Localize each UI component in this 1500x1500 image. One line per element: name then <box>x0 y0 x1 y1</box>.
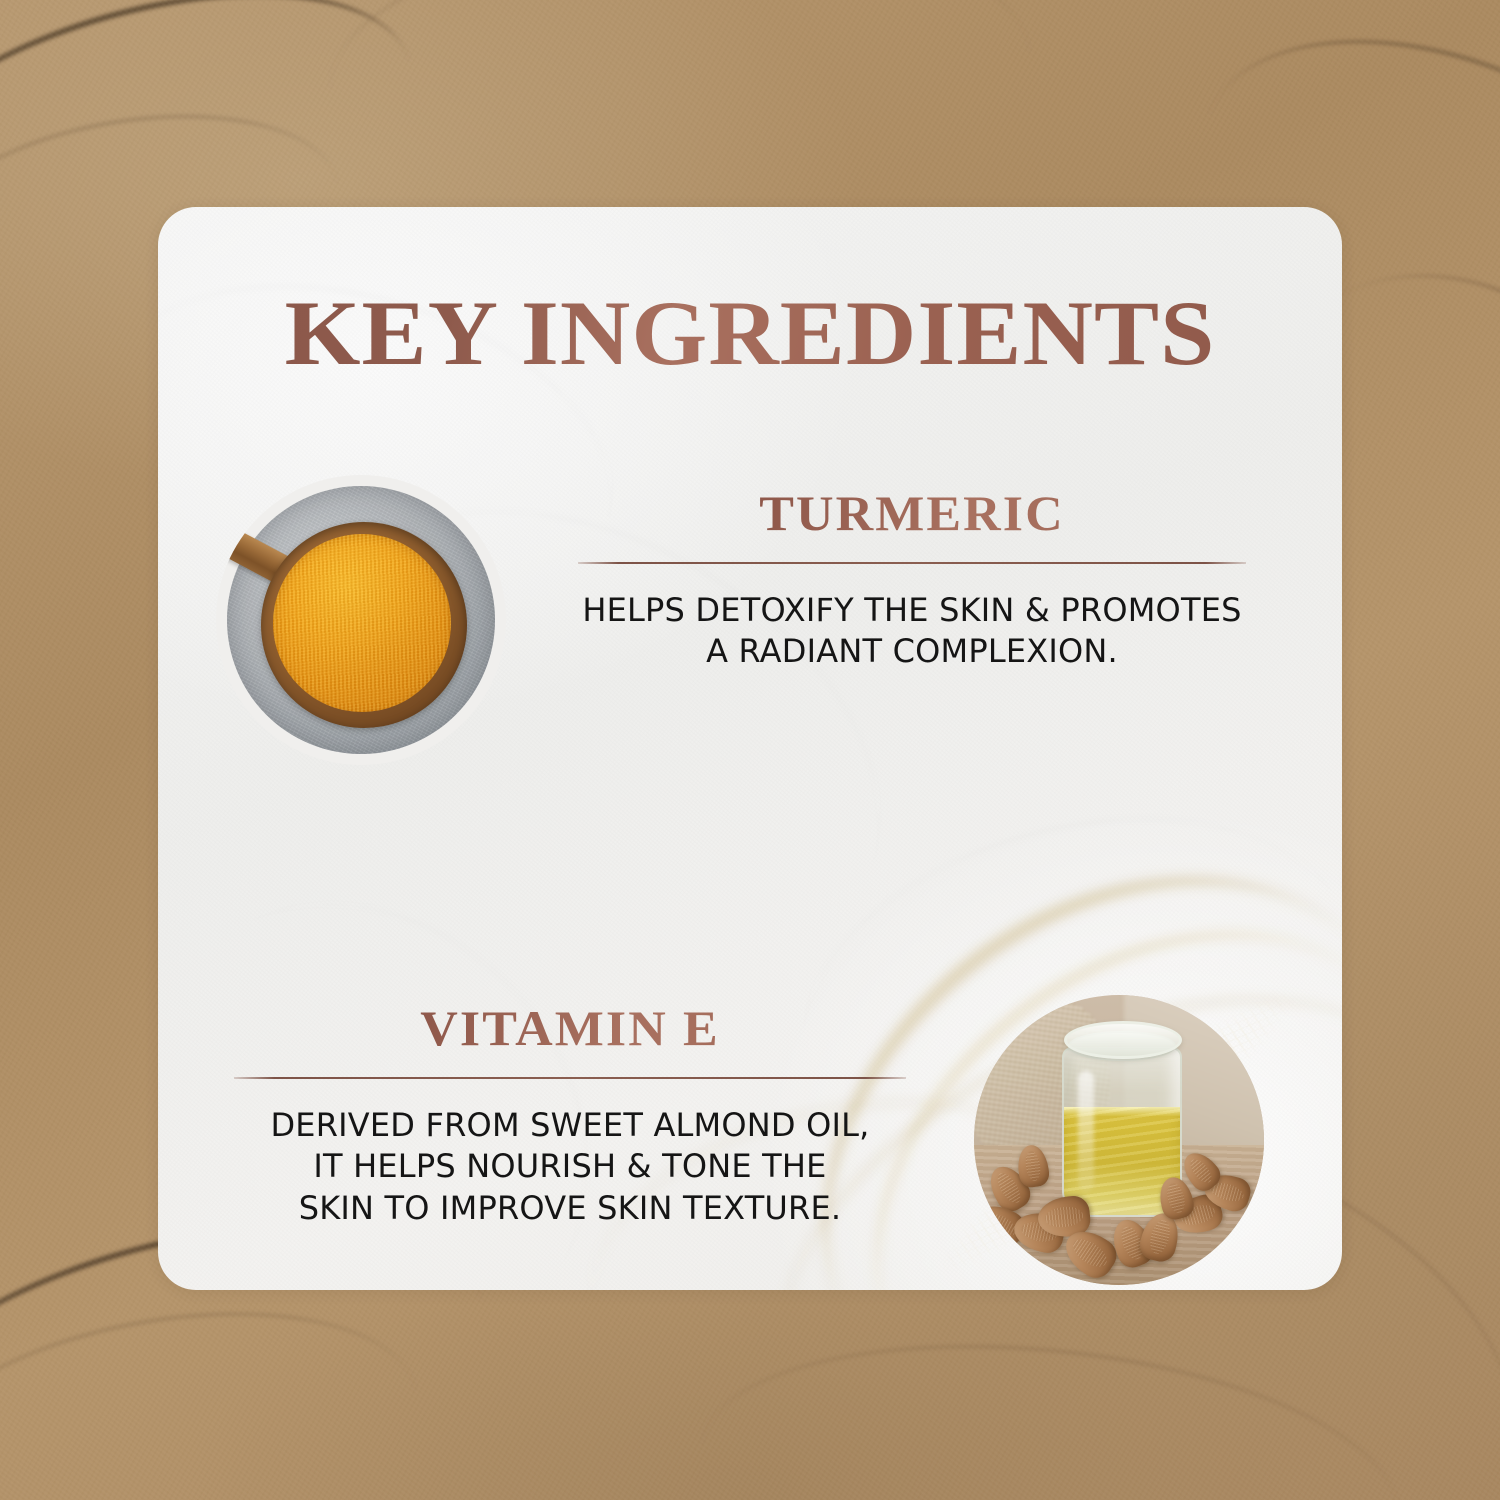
ingredient-description-vitamin-e: DERIVED FROM SWEET ALMOND OIL, IT HELPS … <box>234 1105 906 1230</box>
ingredient-row-turmeric: TURMERIC HELPS DETOXIFY THE SKIN & PROMO… <box>158 447 1342 777</box>
vitamin-e-divider <box>234 1077 906 1079</box>
turmeric-divider <box>578 562 1246 564</box>
content-card: KEY INGREDIENTS TURMERIC HELPS DETOXIFY … <box>158 207 1342 1290</box>
key-ingredients-graphic: KEY INGREDIENTS TURMERIC HELPS DETOXIFY … <box>0 0 1500 1500</box>
vitamin-e-text-block: VITAMIN E DERIVED FROM SWEET ALMOND OIL,… <box>234 1002 906 1229</box>
ingredient-name-vitamin-e: VITAMIN E <box>221 1002 920 1055</box>
ingredient-name-turmeric: TURMERIC <box>565 487 1260 540</box>
jar-rim <box>1064 1021 1182 1059</box>
almond-oil-jar-photo <box>974 995 1264 1285</box>
turmeric-text-block: TURMERIC HELPS DETOXIFY THE SKIN & PROMO… <box>578 487 1246 673</box>
turmeric-powder <box>273 534 451 712</box>
ingredient-row-vitamin-e: VITAMIN E DERIVED FROM SWEET ALMOND OIL,… <box>158 897 1342 1267</box>
jar-highlight <box>1078 1071 1094 1191</box>
turmeric-powder-bowl-photo <box>216 475 506 765</box>
ingredient-description-turmeric: HELPS DETOXIFY THE SKIN & PROMOTES A RAD… <box>578 590 1246 673</box>
page-title: KEY INGREDIENTS <box>158 287 1342 379</box>
